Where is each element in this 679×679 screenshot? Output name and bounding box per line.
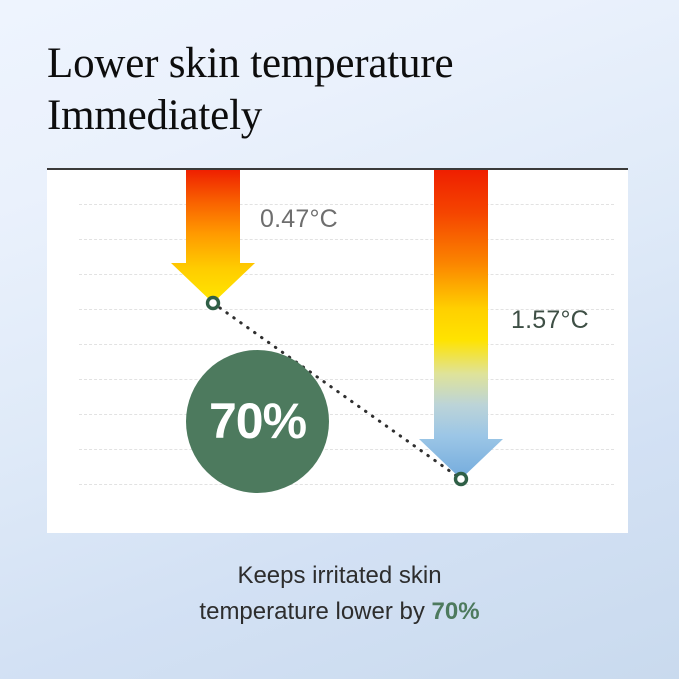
caption: Keeps irritated skin temperature lower b… — [0, 558, 679, 630]
marker-treated — [456, 474, 467, 485]
infographic-root: Lower skin temperature Immediately — [0, 0, 679, 679]
percent-badge: 70% — [186, 350, 329, 493]
value-label-treated: 1.57°C — [511, 306, 589, 335]
chart-card: 70% 0.47°C 1.57°C — [47, 168, 628, 533]
marker-untreated — [208, 298, 219, 309]
arrow-untreated — [171, 170, 255, 303]
caption-highlight: 70% — [432, 598, 480, 625]
arrow-treated — [419, 170, 503, 479]
page-title-line-1: Lower skin temperature — [47, 38, 607, 90]
value-label-untreated: 0.47°C — [260, 205, 338, 234]
caption-line-2: temperature lower by 70% — [0, 594, 679, 630]
page-title: Lower skin temperature Immediately — [47, 38, 607, 142]
caption-line-2-text: temperature lower by — [199, 598, 431, 625]
page-title-line-2: Immediately — [47, 90, 607, 142]
percent-badge-value: 70% — [209, 396, 306, 446]
caption-line-1: Keeps irritated skin — [0, 558, 679, 594]
